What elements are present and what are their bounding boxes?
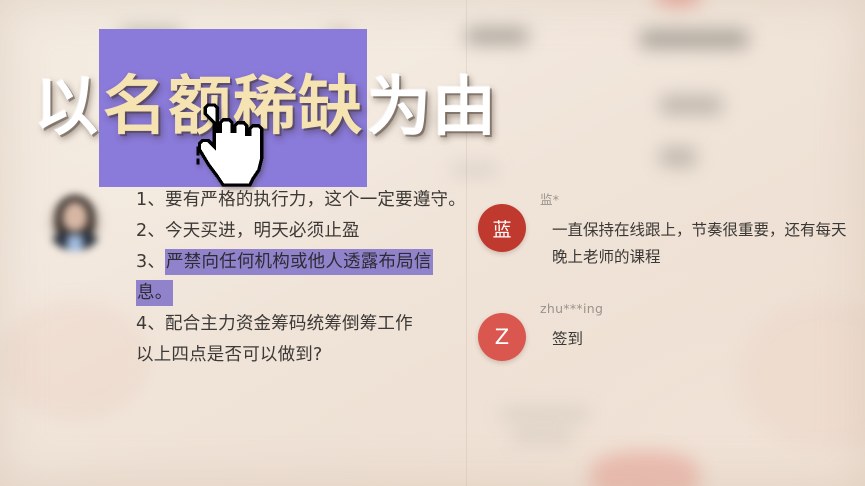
chat-body: 监* 一直保持在线跟上，节奏很重要，还有每天晚上老师的课程 — [540, 192, 859, 271]
bg-text-block — [640, 30, 748, 48]
rule-line: 1、要有严格的执行力，这个一定要遵守。 — [136, 185, 466, 216]
avatar — [46, 193, 104, 251]
bg-text-block — [660, 148, 696, 166]
rule-line: 4、配合主力资金筹码统筹倒筹工作 — [136, 309, 466, 340]
chat-username: 监* — [540, 192, 859, 208]
bg-text-block — [512, 430, 574, 442]
chat-username: zhu***ing — [540, 301, 859, 317]
screenshot-root: 以名额稀缺为由 1、要有严格的执行力，这个一定要遵守。 2、今天买进，明天必须止… — [0, 0, 865, 486]
rule-line: 2、今天买进，明天必须止盈 — [136, 216, 466, 247]
bg-text-block — [500, 408, 590, 420]
chat-list: 蓝 监* 一直保持在线跟上，节奏很重要，还有每天晚上老师的课程 Z zhu***… — [474, 192, 859, 403]
rule-line-highlighted: 3、严禁向任何机构或他人透露布局信息。 — [136, 247, 466, 309]
rule-line-highlight: 严禁向任何机构或他人透露布局信息。 — [136, 249, 433, 306]
bg-accent-shape — [655, 0, 701, 6]
avatar-face — [63, 202, 87, 231]
chat-text: 一直保持在线跟上，节奏很重要，还有每天晚上老师的课程 — [540, 217, 852, 271]
headline-suffix: 为由 — [367, 52, 497, 164]
avatar-shirt — [67, 235, 83, 251]
bg-text-block — [660, 96, 722, 114]
hand-pointer-cursor — [196, 96, 274, 188]
chat-message: Z zhu***ing 签到 — [474, 301, 859, 373]
headline-prefix: 以 — [34, 52, 99, 164]
chat-body: zhu***ing 签到 — [540, 301, 859, 353]
chat-message: 蓝 监* 一直保持在线跟上，节奏很重要，还有每天晚上老师的课程 — [474, 192, 859, 271]
chat-text: 签到 — [540, 326, 852, 353]
rules-text: 1、要有严格的执行力，这个一定要遵守。 2、今天买进，明天必须止盈 3、严禁向任… — [136, 185, 466, 371]
rule-line: 以上四点是否可以做到? — [136, 340, 466, 371]
bg-accent-shape — [590, 452, 700, 486]
bg-smudge — [0, 300, 150, 420]
chat-avatar[interactable]: Z — [478, 313, 526, 361]
chat-avatar[interactable]: 蓝 — [478, 204, 526, 252]
rule-line-prefix: 3、 — [136, 252, 165, 272]
